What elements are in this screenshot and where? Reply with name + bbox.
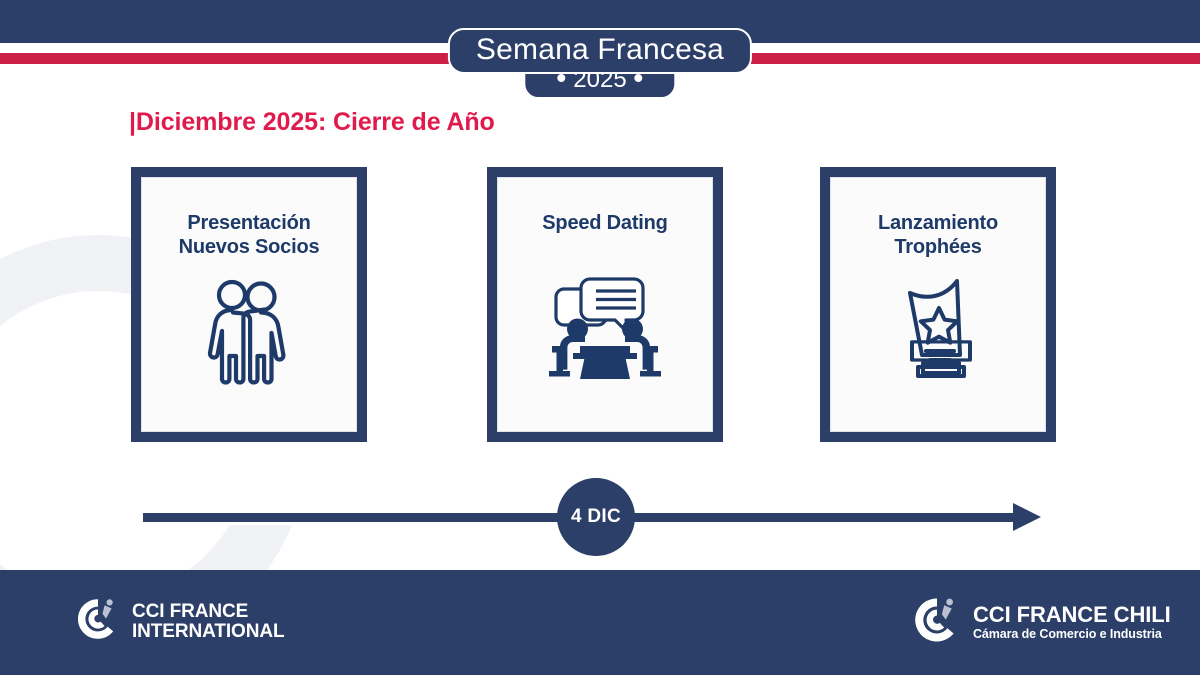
timeline: 4 DIC: [0, 470, 1200, 565]
card-title: Presentación Nuevos Socios: [173, 211, 326, 259]
event-card-lanzamiento-trophees[interactable]: Lanzamiento Trophées: [820, 167, 1056, 442]
meeting-speech-bubble-icon: [530, 257, 680, 390]
card-title-line2: Trophées: [878, 235, 998, 259]
event-card-row: Presentación Nuevos Socios: [0, 167, 1200, 444]
logo-text-block: CCI FRANCE CHILI Cámara de Comercio e In…: [973, 603, 1171, 642]
event-year-label: 2025: [573, 66, 626, 93]
footer-bar: CCI FRANCE INTERNATIONAL Club Innovación: [0, 570, 1200, 675]
logo-cci-france-chili[interactable]: CCI FRANCE CHILI Cámara de Comercio e In…: [912, 595, 1171, 650]
page-title: |Diciembre 2025: Cierre de Año: [129, 108, 495, 137]
card-title: Speed Dating: [536, 211, 673, 235]
logo-cci-france-international[interactable]: CCI FRANCE INTERNATIONAL: [75, 596, 284, 647]
two-people-icon: [189, 271, 309, 396]
timeline-date-node[interactable]: 4 DIC: [557, 478, 635, 556]
card-inner: Speed Dating: [497, 177, 713, 432]
card-title-line1: Lanzamiento: [878, 211, 998, 235]
bullet-left-icon: [557, 74, 565, 82]
logo-text-block: CCI FRANCE INTERNATIONAL: [132, 602, 284, 642]
logo-line1: CCI FRANCE: [132, 602, 284, 622]
card-inner: Presentación Nuevos Socios: [141, 177, 357, 432]
event-card-speed-dating[interactable]: Speed Dating: [487, 167, 723, 442]
trophy-icon: [878, 267, 998, 394]
event-card-presentacion-nuevos-socios[interactable]: Presentación Nuevos Socios: [131, 167, 367, 442]
card-inner: Lanzamiento Trophées: [830, 177, 1046, 432]
timeline-arrow-icon: [1013, 503, 1041, 531]
logo-line2: Cámara de Comercio e Industria: [973, 627, 1171, 642]
slide-canvas: 2025 Semana Francesa |Diciembre 2025: Ci…: [0, 0, 1200, 675]
logo-line2: INTERNATIONAL: [132, 622, 284, 642]
card-title: Lanzamiento Trophées: [872, 211, 1004, 259]
card-title-line1: Speed Dating: [542, 211, 667, 235]
bullet-right-icon: [635, 74, 643, 82]
top-red-stripe: [0, 53, 1200, 64]
card-title-line1: Presentación: [179, 211, 320, 235]
cci-circle-logo-icon: [912, 595, 962, 650]
top-navy-band: [0, 0, 1200, 43]
event-badge-year: 2025: [523, 60, 676, 99]
card-title-line2: Nuevos Socios: [179, 235, 320, 259]
logo-line1: CCI FRANCE CHILI: [973, 603, 1171, 627]
cci-circle-logo-icon: [75, 596, 121, 647]
